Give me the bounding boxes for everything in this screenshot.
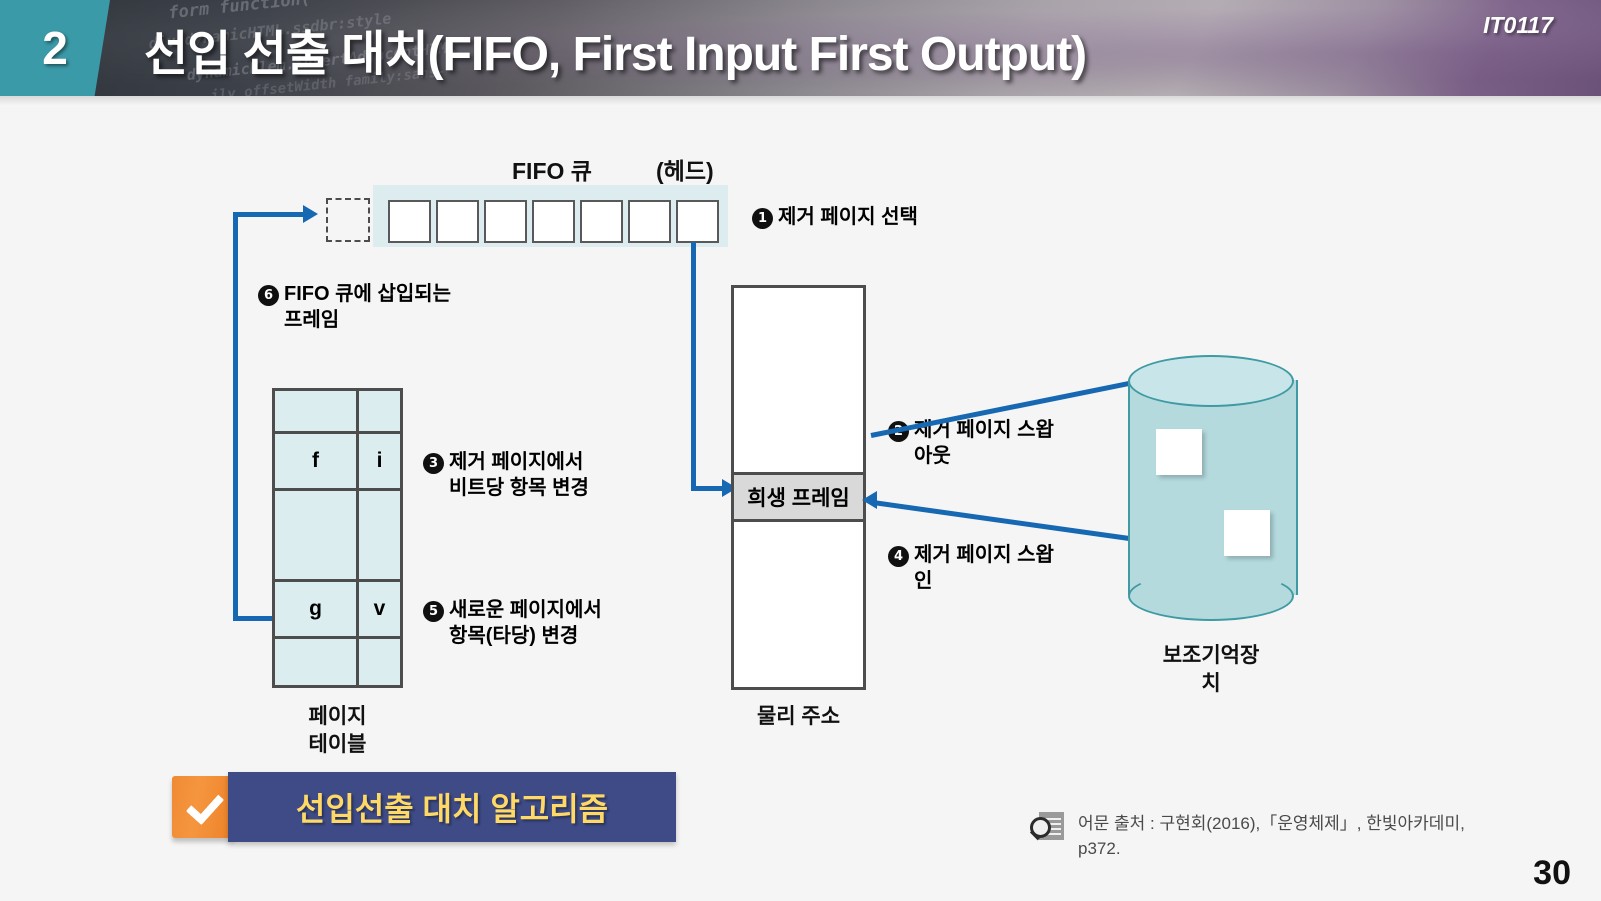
- page-table-cell-bit-5: [359, 639, 400, 685]
- secondary-storage-cylinder: [1128, 355, 1294, 620]
- fifo-queue-head-label: (헤드): [656, 152, 714, 186]
- annotation-3-change-bit-entry: 3제거 페이지에서 비트당 항목 변경: [423, 450, 589, 501]
- page-table-caption-line2: 테이블: [272, 731, 403, 759]
- slide-header: form function( div dynamicHTML.ssdbr:sty…: [0, 0, 1601, 96]
- fifo-queue-cell-4[interactable]: [532, 200, 575, 243]
- source-citation-line1: 어문 출처 : 구현회(2016),「운영체제」, 한빛아카데미,: [1078, 812, 1508, 837]
- page-table-cell-frame-1: [275, 391, 356, 434]
- arrow-head-to-victim-vertical: [691, 242, 696, 490]
- annotation-6-line2: 프레임: [284, 308, 451, 334]
- cylinder-bottom-ellipse: [1128, 571, 1294, 621]
- page-number: 30: [1533, 854, 1571, 893]
- algorithm-banner[interactable]: 선입선출 대치 알고리즘: [228, 772, 676, 842]
- cylinder-body: [1128, 380, 1298, 595]
- source-citation: 어문 출처 : 구현회(2016),「운영체제」, 한빛아카데미, p372.: [1078, 812, 1508, 861]
- fifo-queue-cell-5[interactable]: [580, 200, 623, 243]
- arrow-newframe-bottom-segment: [233, 616, 275, 621]
- annotation-4-line2: 인: [914, 569, 1054, 595]
- physical-memory-upper-region: [734, 288, 863, 475]
- page-table-caption-line1: 페이지: [272, 703, 403, 731]
- victim-frame-cell[interactable]: 희생 프레임: [734, 475, 863, 522]
- algorithm-banner-label: 선입선출 대치 알고리즘: [296, 784, 608, 830]
- disk-caption-line1: 보조기억장: [1128, 642, 1294, 670]
- annotation-5-line1: 새로운 페이지에서: [449, 599, 602, 621]
- page-table-bit-column: i v: [359, 391, 400, 685]
- disk-page-box-2: [1224, 510, 1270, 556]
- annotation-2-line2: 아웃: [914, 444, 1054, 470]
- arrow-newframe-vertical-segment: [233, 212, 238, 621]
- bullet-number-5: 5: [423, 601, 444, 622]
- annotation-1-select-victim-page: 1제거 페이지 선택: [752, 205, 918, 231]
- header-divider: [0, 96, 1601, 105]
- annotation-4-swap-in-page: 4제거 페이지 스왑 인: [888, 543, 1054, 594]
- fifo-queue-cell-6[interactable]: [628, 200, 671, 243]
- page-table-cell-frame-3: [275, 491, 356, 582]
- arrow-newframe-tip: [303, 205, 318, 223]
- page-table: f g i v: [272, 388, 403, 688]
- annotation-5-line2: 항목(타당) 변경: [449, 624, 602, 650]
- bullet-number-3: 3: [423, 453, 444, 474]
- magnifier-document-icon: [1030, 812, 1064, 842]
- annotation-1-line1: 제거 페이지 선택: [778, 206, 918, 228]
- page-table-cell-frame-5: [275, 639, 356, 685]
- page-table-cell-bit-4: v: [359, 582, 400, 639]
- annotation-3-line2: 비트당 항목 변경: [449, 476, 589, 502]
- annotation-6-line1: FIFO 큐에 삽입되는: [284, 283, 451, 305]
- section-number-badge: 2: [0, 0, 110, 96]
- fifo-queue-title: FIFO 큐: [512, 152, 592, 186]
- arrow-swap-in-tip: [862, 491, 877, 509]
- bullet-number-1: 1: [752, 208, 773, 229]
- slide-canvas: form function( div dynamicHTML.ssdbr:sty…: [0, 0, 1601, 901]
- page-table-frame-column: f g: [275, 391, 359, 685]
- annotation-4-line1: 제거 페이지 스왑: [914, 544, 1054, 566]
- annotation-5-change-valid-entry: 5새로운 페이지에서 항목(타당) 변경: [423, 598, 602, 649]
- page-table-cell-bit-1: [359, 391, 400, 434]
- arrow-newframe-top-segment: [233, 212, 305, 217]
- page-table-cell-frame-2: f: [275, 434, 356, 491]
- disk-page-box-1: [1156, 429, 1202, 475]
- source-citation-line2: p372.: [1078, 837, 1508, 862]
- cylinder-top-ellipse: [1128, 355, 1294, 407]
- page-table-cell-bit-2: i: [359, 434, 400, 491]
- fifo-queue-cell-1[interactable]: [388, 200, 431, 243]
- physical-memory-caption: 물리 주소: [731, 703, 866, 731]
- bullet-number-6: 6: [258, 285, 279, 306]
- fifo-queue-incoming-slot: [326, 198, 370, 242]
- page-title: 선입 선출 대치(FIFO, First Input First Output): [144, 14, 1086, 84]
- physical-memory-column: 희생 프레임: [731, 285, 866, 690]
- annotation-3-line1: 제거 페이지에서: [449, 451, 583, 473]
- course-code: IT0117: [1483, 12, 1553, 39]
- bullet-number-4: 4: [888, 546, 909, 567]
- physical-memory-lower-region: [734, 522, 863, 687]
- fifo-queue-cell-3[interactable]: [484, 200, 527, 243]
- fifo-queue-cell-2[interactable]: [436, 200, 479, 243]
- annotation-6-frame-inserted-into-queue: 6FIFO 큐에 삽입되는 프레임: [258, 282, 451, 333]
- page-table-cell-bit-3: [359, 491, 400, 582]
- fifo-queue-cell-7-head[interactable]: [676, 200, 719, 243]
- disk-caption-line2: 치: [1128, 670, 1294, 698]
- page-table-cell-frame-4: g: [275, 582, 356, 639]
- check-icon: [172, 776, 234, 838]
